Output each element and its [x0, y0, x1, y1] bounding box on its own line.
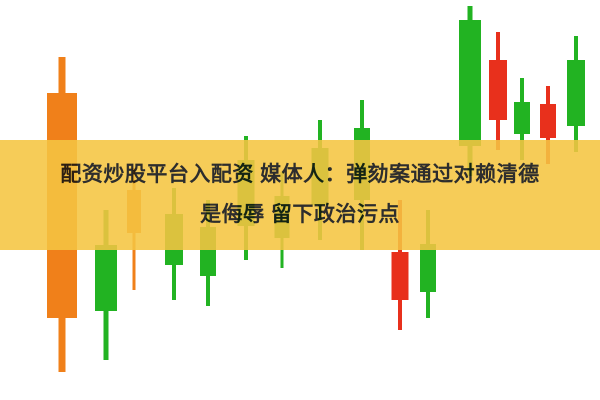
candle-body	[514, 102, 530, 134]
candle-body	[95, 245, 117, 311]
headline-line-2: 是侮辱 留下政治污点	[200, 195, 400, 235]
candle-body	[459, 20, 481, 146]
news-thumbnail-image: 配资炒股平台入配资 媒体人：弹劾案通过对赖清德 是侮辱 留下政治污点	[0, 0, 600, 400]
headline-line-1: 配资炒股平台入配资 媒体人：弹劾案通过对赖清德	[60, 155, 539, 195]
headline-banner: 配资炒股平台入配资 媒体人：弹劾案通过对赖清德 是侮辱 留下政治污点	[0, 140, 600, 250]
candle-body	[489, 60, 507, 120]
candle-body	[392, 252, 409, 300]
candle-body	[540, 104, 556, 138]
candle-body	[420, 244, 436, 292]
candle-body	[567, 60, 585, 126]
